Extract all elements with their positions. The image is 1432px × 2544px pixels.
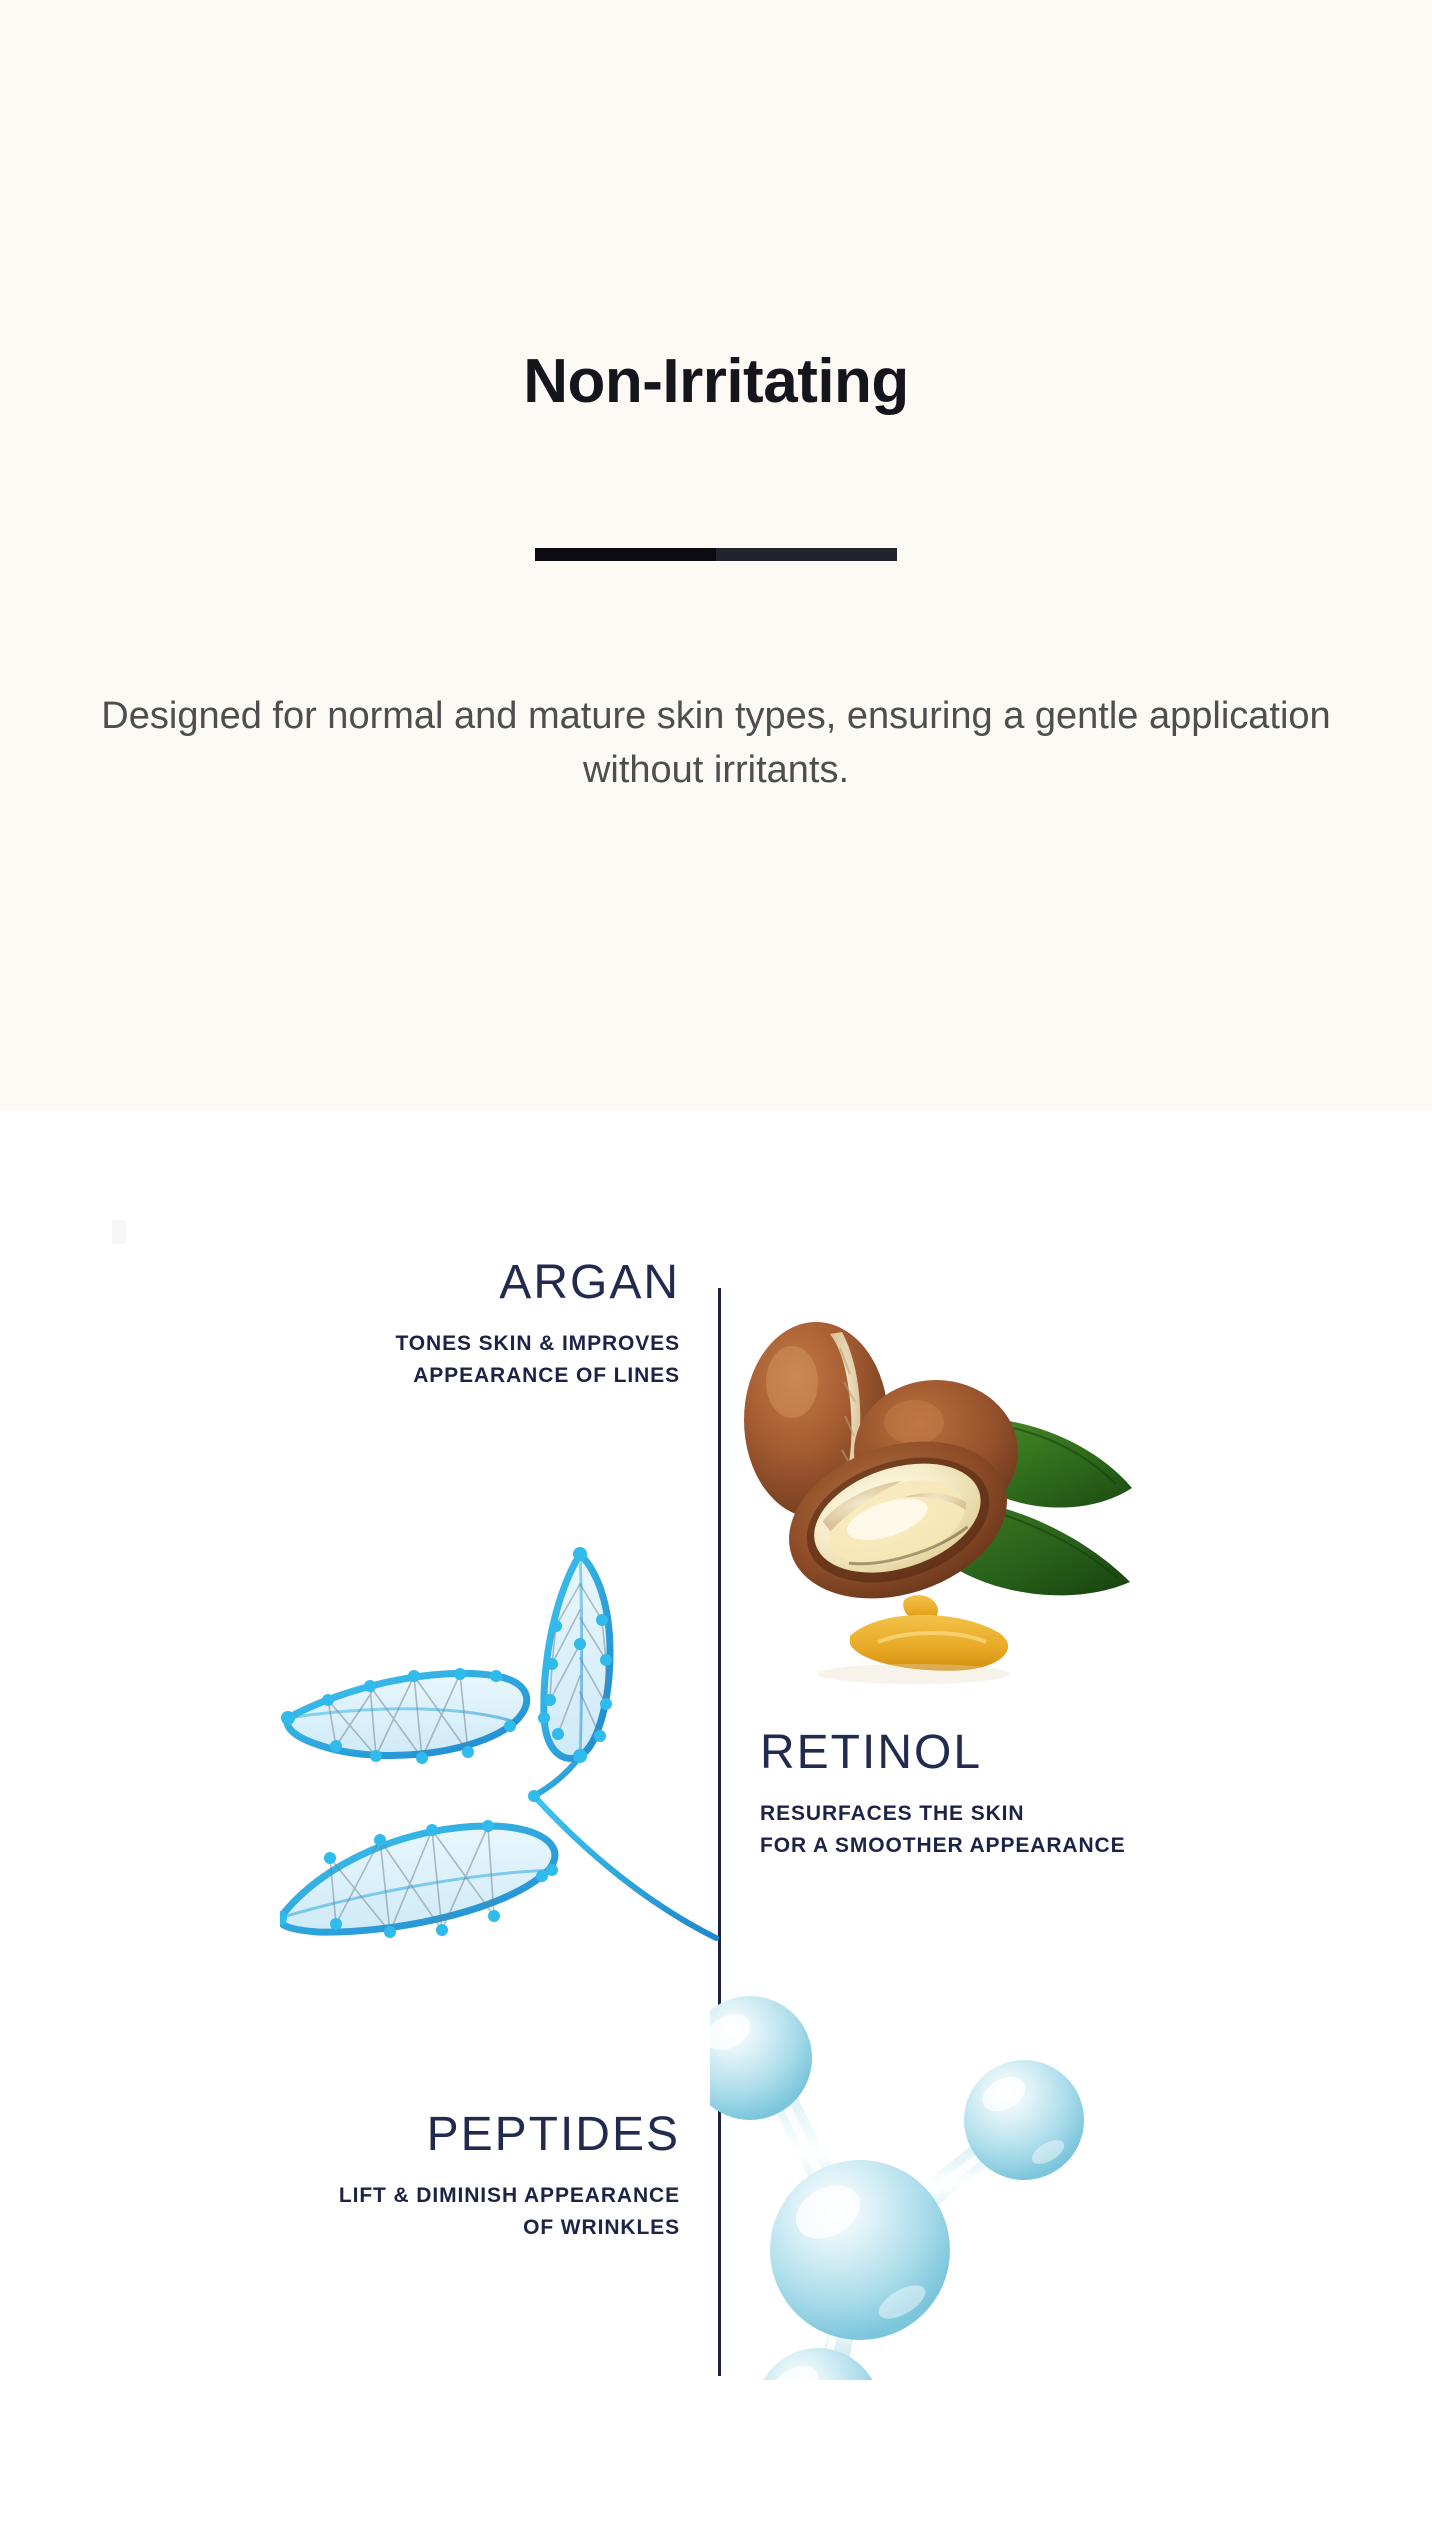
- ingredient-retinol-description-line-1: RESURFACES THE SKIN: [760, 1798, 1320, 1830]
- divider-segment-left: [535, 548, 716, 561]
- divider-segment-right: [716, 548, 897, 561]
- product-feature-page: Non-Irritating Designed for normal and m…: [0, 0, 1432, 2544]
- ingredient-argan-name: ARGAN: [150, 1258, 680, 1308]
- ingredient-retinol-name: RETINOL: [760, 1728, 1320, 1778]
- ingredient-argan-description-line-2: APPEARANCE OF LINES: [150, 1360, 680, 1392]
- ingredient-retinol-description: RESURFACES THE SKIN FOR A SMOOTHER APPEA…: [760, 1798, 1320, 1861]
- argan-nut-photo-icon: [718, 1270, 1158, 1700]
- leaf-network-graphic-icon: [280, 1540, 740, 1950]
- page-title: Non-Irritating: [0, 348, 1432, 416]
- ingredient-peptides-description: LIFT & DIMINISH APPEARANCE OF WRINKLES: [140, 2180, 680, 2243]
- ingredient-peptides-description-line-1: LIFT & DIMINISH APPEARANCE: [140, 2180, 680, 2212]
- molecule-graphic-icon: [710, 1950, 1180, 2380]
- ingredient-retinol: RETINOL RESURFACES THE SKIN FOR A SMOOTH…: [760, 1728, 1320, 1861]
- title-divider-rule: [535, 548, 897, 561]
- ingredient-argan: ARGAN TONES SKIN & IMPROVES APPEARANCE O…: [150, 1258, 680, 1391]
- ingredient-argan-description-line-1: TONES SKIN & IMPROVES: [150, 1328, 680, 1360]
- hero-section: Non-Irritating Designed for normal and m…: [0, 0, 1432, 1110]
- ingredient-peptides: PEPTIDES LIFT & DIMINISH APPEARANCE OF W…: [140, 2110, 680, 2243]
- hero-subtitle: Designed for normal and mature skin type…: [86, 690, 1346, 798]
- ingredient-retinol-description-line-2: FOR A SMOOTHER APPEARANCE: [760, 1830, 1320, 1862]
- ingredients-panel: ARGAN TONES SKIN & IMPROVES APPEARANCE O…: [0, 1110, 1432, 2544]
- ingredient-peptides-description-line-2: OF WRINKLES: [140, 2212, 680, 2244]
- faint-artifact-mark: [112, 1220, 126, 1244]
- ingredient-argan-description: TONES SKIN & IMPROVES APPEARANCE OF LINE…: [150, 1328, 680, 1391]
- ingredient-peptides-name: PEPTIDES: [140, 2110, 680, 2160]
